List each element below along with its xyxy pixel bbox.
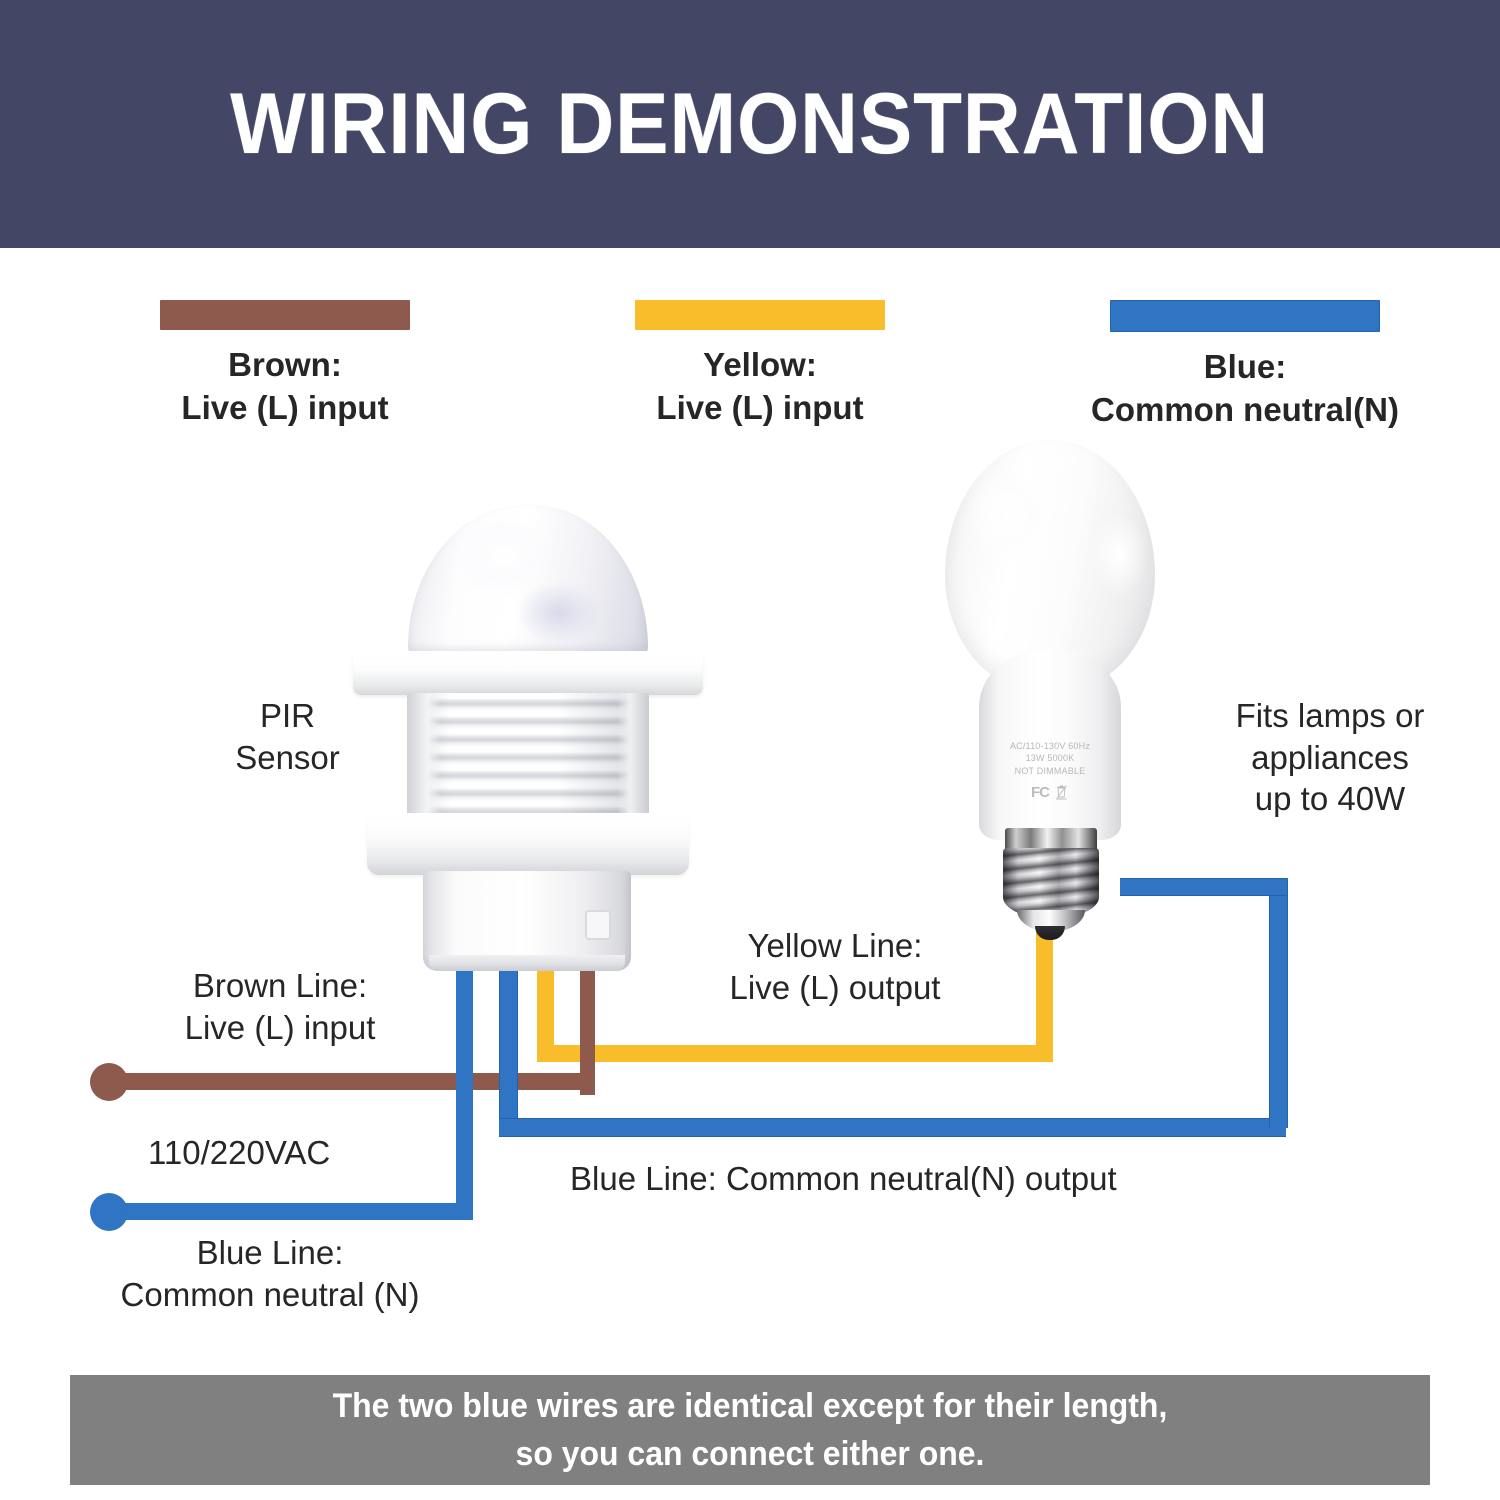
header-bar: WIRING DEMONSTRATION	[0, 0, 1500, 248]
blue-line-output-label: Blue Line: Common neutral(N) output	[570, 1158, 1270, 1200]
pir-sensor-flange	[353, 651, 703, 695]
legend-swatch-brown	[160, 300, 410, 330]
legend-swatch-yellow	[635, 300, 885, 330]
footer-note: The two blue wires are identical except …	[333, 1382, 1168, 1479]
voltage-label: 110/220VAC	[148, 1132, 468, 1174]
yellow-output-wire-vertical-sensor	[537, 955, 554, 1062]
wiring-demonstration-diagram: WIRING DEMONSTRATION Brown: Live (L) inp…	[0, 0, 1500, 1500]
bulb-certification-marks: FC	[1013, 785, 1085, 800]
page-title: WIRING DEMONSTRATION	[230, 75, 1269, 174]
pir-sensor-body-latch	[585, 910, 611, 940]
bulb-base-contact-tip	[1035, 926, 1065, 940]
pir-sensor-lock-nut	[367, 813, 689, 875]
blue-output-wire-vertical-sensor	[499, 955, 518, 1135]
legend-swatch-blue	[1110, 300, 1380, 332]
blue-input-wire-horizontal	[105, 1203, 473, 1220]
fcc-mark-icon: FC	[1031, 785, 1049, 800]
legend-item-brown: Brown: Live (L) input	[120, 300, 450, 430]
yellow-output-wire-vertical-bulb	[1036, 930, 1053, 1062]
pir-sensor-barrel-shade-left	[407, 693, 441, 821]
pir-sensor-barrel-shade-right	[617, 693, 649, 821]
bulb-capacity-label: Fits lamps or appliances up to 40W	[1185, 695, 1475, 820]
blue-output-wire-horizontal	[499, 1118, 1286, 1137]
legend-item-yellow: Yellow: Live (L) input	[595, 300, 925, 430]
brown-input-wire-horizontal	[105, 1073, 595, 1090]
yellow-line-label: Yellow Line: Live (L) output	[645, 925, 1025, 1008]
pir-sensor-label: PIR Sensor	[175, 695, 400, 778]
blue-line-left-label: Blue Line: Common neutral (N)	[70, 1232, 470, 1315]
blue-output-wire-vertical-bulb	[1269, 878, 1288, 1128]
pir-sensor-threaded-barrel	[407, 693, 649, 821]
bulb-spec-label: AC/110-130V 60Hz 13W 5000K NOT DIMMABLE	[985, 740, 1115, 777]
bulb-e26-screw-base	[1003, 848, 1099, 918]
legend-label-blue: Blue: Common neutral(N)	[1055, 346, 1435, 432]
footer-bar: The two blue wires are identical except …	[70, 1375, 1430, 1485]
legend-label-yellow: Yellow: Live (L) input	[595, 344, 925, 430]
legend-item-blue: Blue: Common neutral(N)	[1055, 300, 1435, 432]
weee-bin-icon	[1056, 785, 1067, 800]
pir-sensor-dome-lens	[408, 505, 648, 655]
legend-label-brown: Brown: Live (L) input	[120, 344, 450, 430]
led-light-bulb: AC/110-130V 60Hz 13W 5000K NOT DIMMABLE …	[945, 440, 1155, 940]
yellow-output-wire-horizontal	[553, 1045, 1045, 1062]
blue-input-wire-terminal	[90, 1193, 128, 1231]
blue-input-wire-vertical	[456, 955, 473, 1220]
brown-input-wire-terminal	[90, 1063, 128, 1101]
pir-sensor-body-base	[429, 955, 625, 971]
brown-line-label: Brown Line: Live (L) input	[120, 965, 440, 1048]
